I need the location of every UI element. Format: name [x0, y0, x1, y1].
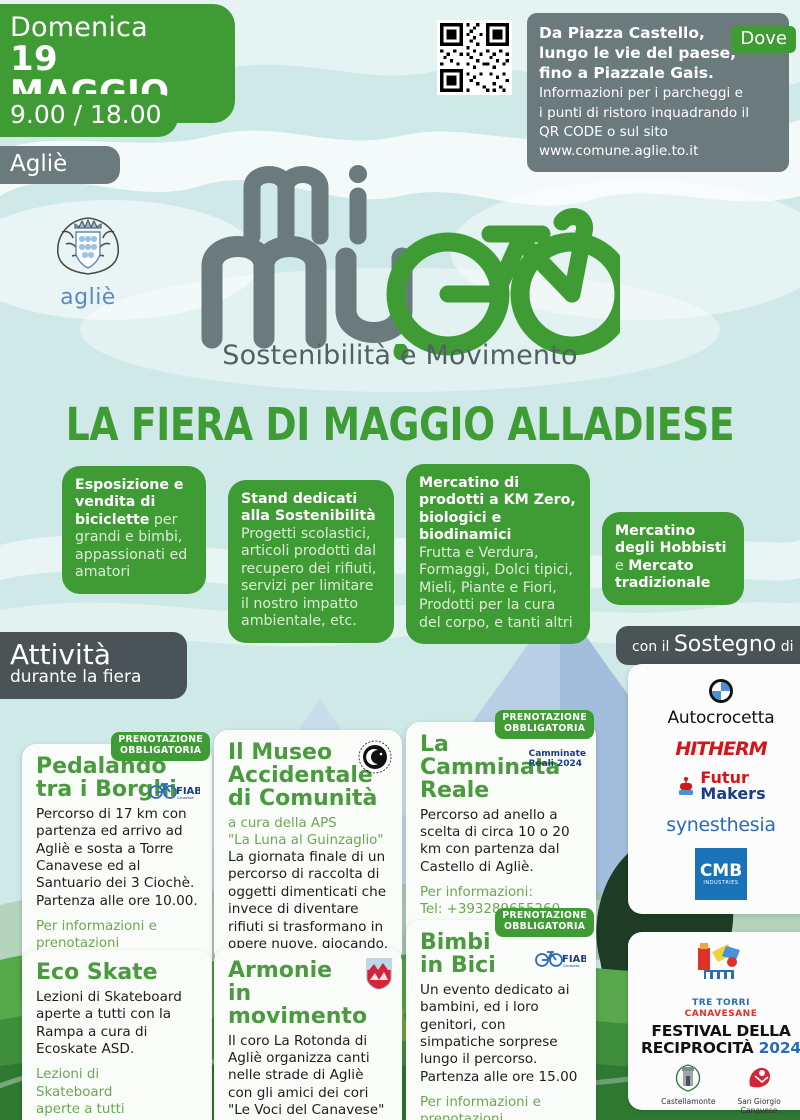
tre-torri-canavesane-icon [682, 940, 760, 992]
reservation-badge: PRENOTAZIONE OBBLIGATORIA [111, 732, 210, 761]
town-name-0: Castellamonte [661, 1098, 715, 1107]
feature-mid-3: e [615, 558, 628, 574]
sponsors-heading: con il Sostegno di [616, 626, 800, 665]
reservation-badge: PRENOTAZIONE OBBLIGATORIA [495, 710, 594, 739]
castellamonte-crest-icon [671, 1062, 705, 1092]
festival-title-line1: FESTIVAL DELLA [638, 1023, 800, 1040]
festival-title-line2: RECIPROCITÀ [641, 1039, 753, 1057]
sponsor-cmb-sub: INDUSTRIES [703, 880, 738, 886]
time-badge: 9.00 / 18.00 [0, 94, 178, 137]
activities-heading: Attività durante la fiera [0, 632, 187, 699]
luna-al-guinzaglio-logo-icon [358, 740, 392, 778]
card-body-museo: La giornata finale di un percorso di rac… [228, 849, 389, 953]
fiab-logo-icon: FIAB Canavese [534, 946, 586, 974]
feature-bold-3: Mercatino degli Hobbisti [615, 523, 726, 556]
activity-card-museo[interactable]: Il Museo Accidentale di Comunità a cura … [214, 730, 402, 965]
card-body-armonie: Il coro La Rotonda di Agliè organizza ca… [228, 1033, 389, 1120]
feature-box-km-zero: Mercatino di prodotti a KM Zero, biologi… [406, 464, 590, 644]
sponsor-cmb[interactable]: CMB INDUSTRIES [695, 848, 747, 900]
town-badge: Agliè [0, 146, 120, 184]
qr-code-icon [437, 20, 512, 95]
date-dayofweek: Domenica [10, 14, 221, 42]
poster-root: Domenica 19 MAGGIO 9.00 / 18.00 Agliè ag… [0, 0, 800, 1120]
sponsors-heading-post: di [776, 639, 793, 655]
town-castellamonte: Castellamonte [661, 1062, 715, 1115]
card-body-camminata: Percorso ad anello a scelta di circa 10 … [420, 807, 583, 877]
sponsor-synesthesia[interactable]: synesthesia [642, 814, 800, 836]
camminate-reali-logo-text: Camminate Reali 2024 [529, 750, 586, 770]
sponsor-futur-line2: Makers [700, 786, 765, 802]
svg-text:Canavese: Canavese [177, 796, 194, 800]
tre-torri-line1: TRE TORRI [692, 998, 750, 1008]
sponsors-panel: Autocrocetta HITHERM Futur Makers synest… [628, 664, 800, 914]
sponsor-hitherm[interactable]: HITHERM [642, 738, 800, 760]
festival-panel: TRE TORRI CANAVESANE FESTIVAL DELLA RECI… [628, 932, 800, 1110]
festival-year: 2024 [759, 1039, 800, 1057]
reservation-badge-line2: OBBLIGATORIA [504, 723, 585, 734]
card-title-ecoskate: Eco Skate [36, 962, 199, 985]
reservation-badge: PRENOTAZIONE OBBLIGATORIA [495, 908, 594, 937]
card-subtitle-museo: a cura della APS "La Luna al Guinzaglio" [228, 815, 389, 849]
feature-bold-2: Mercatino di prodotti a KM Zero, biologi… [419, 475, 576, 543]
reservation-badge-line1: PRENOTAZIONE [118, 734, 203, 745]
sponsor-autocrocetta[interactable]: Autocrocetta [642, 678, 800, 728]
aglie-crest: agliè [42, 208, 134, 310]
futurmakers-bot-icon [676, 775, 696, 797]
festival-title-line2-wrap: RECIPROCITÀ 2024 [638, 1040, 800, 1057]
reservation-badge-line2: OBBLIGATORIA [504, 921, 585, 932]
crest-label: agliè [42, 285, 134, 310]
sponsors-heading-big: Sostegno [674, 632, 776, 657]
san-giorgio-canavese-crest-icon [742, 1062, 776, 1092]
crest-icon [42, 208, 134, 280]
card-note-bimbi: Per informazioni e prenotazioni Tel: 349… [420, 1094, 583, 1120]
town-name-1: San Giorgio Canavese [737, 1098, 780, 1115]
info-sub-2: i punti di ristoro inquadrando il [539, 104, 777, 122]
activity-card-armonie[interactable]: Armonie in movimento Il coro La Rotonda … [214, 948, 402, 1120]
sponsors-heading-pre: con il [632, 639, 674, 655]
mi-muovo-logo-icon [190, 148, 620, 360]
card-note-ecoskate: Lezioni di Skateboard aperte a tutti dal… [36, 1066, 156, 1120]
feature-rest-1: Progetti scolastici, articoli prodotti d… [241, 526, 381, 631]
sponsor-futurmakers[interactable]: Futur Makers [642, 770, 800, 802]
tre-torri-line2: CANAVESANE [638, 1009, 800, 1019]
feature-bold2-3: Mercato tradizionale [615, 558, 710, 591]
logo-tagline: Sostenibilità e Movimento [0, 340, 800, 371]
fiab-logo-icon: FIAB Canavese [148, 778, 200, 806]
reservation-badge-line2: OBBLIGATORIA [120, 745, 201, 756]
aglie-shield-logo-icon [366, 958, 392, 994]
town-san-giorgio: San Giorgio Canavese [737, 1062, 780, 1115]
svg-text:Canavese: Canavese [563, 964, 580, 968]
activity-card-bimbi[interactable]: PRENOTAZIONE OBBLIGATORIA FIAB Canavese … [406, 920, 596, 1120]
feature-box-sustainability: Stand dedicati alla Sostenibilità Proget… [228, 480, 394, 643]
sponsor-cmb-short: CMB [700, 863, 742, 880]
info-sub-3: QR CODE o sul sito [539, 123, 777, 141]
dove-badge: Dove [731, 26, 796, 53]
activities-title: Attività [10, 640, 175, 669]
activity-card-ecoskate[interactable]: EcoSkate Eco Skate Lezioni di Skateboard… [22, 950, 212, 1120]
card-body-ecoskate: Lezioni di Skateboard aperte a tutti con… [36, 989, 199, 1059]
reservation-badge-line1: PRENOTAZIONE [502, 910, 587, 921]
feature-bold-1: Stand dedicati alla Sostenibilità [241, 491, 376, 524]
reservation-badge-line1: PRENOTAZIONE [502, 712, 587, 723]
page-title: LA FIERA DI MAGGIO ALLADIESE [28, 398, 772, 451]
card-body-pedalando: Percorso di 17 km con partenza ed arrivo… [36, 806, 199, 910]
card-body-bimbi: Un evento dedicato ai bambini, ed i loro… [420, 982, 583, 1086]
feature-box-hobbyists: Mercatino degli Hobbisti e Mercato tradi… [602, 512, 744, 605]
info-lead-3: fino a Piazzale Gais. [539, 63, 777, 83]
card-title-armonie: Armonie in movimento [228, 960, 389, 1029]
feature-box-bicycles: Esposizione e vendita di biciclette per … [62, 466, 206, 594]
bmw-roundel-icon [708, 678, 734, 704]
feature-rest-2: Frutta e Verdura, Formaggi, Dolci tipici… [419, 545, 577, 632]
mi-muovo-logo [190, 148, 620, 358]
activities-subtitle: durante la fiera [10, 669, 175, 687]
info-sub-1: Informazioni per i parcheggi e [539, 84, 777, 102]
sponsor-name-0: Autocrocetta [642, 708, 800, 728]
